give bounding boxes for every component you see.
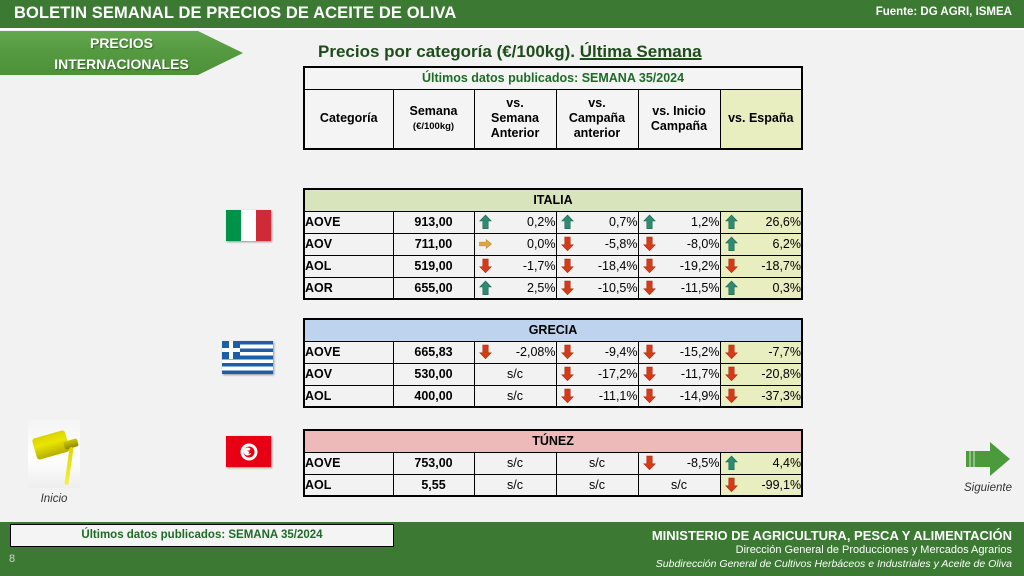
arrow-down-icon <box>643 367 656 382</box>
cell-value: -11,7% <box>681 367 720 381</box>
cell-value: s/c <box>507 456 523 470</box>
cell-value: 6,2% <box>773 237 802 251</box>
section-tab-line2: INTERNACIONALES <box>54 56 189 72</box>
arrow-up-icon <box>725 237 738 252</box>
cell-semana-precio: 913,00 <box>393 211 474 233</box>
cell-value: -19,2% <box>680 259 720 273</box>
cell-vs-semana-anterior: 0,2% <box>474 211 556 233</box>
cell-value: 2,5% <box>527 281 556 295</box>
greece-cross-horizontal <box>222 348 240 352</box>
cell-value: 26,6% <box>766 215 801 229</box>
cell-value: -15,2% <box>680 345 720 359</box>
col-header-semana-main: Semana <box>410 104 458 118</box>
arrow-down-icon <box>643 345 656 360</box>
cell-vs-espana: 4,4% <box>720 452 802 474</box>
flag-tunisia-icon: ★ <box>226 436 271 467</box>
cell-vs-campana-anterior: -9,4% <box>556 341 638 363</box>
cell-value: 4,4% <box>773 456 802 470</box>
nav-siguiente-label: Siguiente <box>952 482 1024 494</box>
cell-vs-semana-anterior: 0,0% <box>474 233 556 255</box>
cell-semana-precio: 5,55 <box>393 474 474 496</box>
cell-value: -11,5% <box>681 281 720 295</box>
cell-vs-inicio-campana: -14,9% <box>638 385 720 407</box>
country-table-túnez: TÚNEZAOVE753,00s/cs/c-8,5%4,4%AOL5,55s/c… <box>303 429 803 497</box>
arrow-down-icon <box>561 280 574 295</box>
arrow-down-icon <box>561 388 574 403</box>
cell-vs-semana-anterior: s/c <box>474 474 556 496</box>
cell-value: s/c <box>589 456 605 470</box>
cell-value: -20,8% <box>761 367 801 381</box>
tunisia-star-icon: ★ <box>246 447 254 456</box>
vs-label-2: Semana <box>491 111 539 125</box>
cell-value: s/c <box>671 478 687 492</box>
cell-vs-espana: -18,7% <box>720 255 802 277</box>
cell-categoria: AOV <box>304 363 393 385</box>
cell-value: -7,7% <box>768 345 801 359</box>
ministry-sdg: Subdirección General de Cultivos Herbáce… <box>652 557 1012 571</box>
cell-categoria: AOL <box>304 474 393 496</box>
arrow-down-icon <box>561 345 574 360</box>
col-header-categoria: Categoría <box>304 89 393 149</box>
cell-value: s/c <box>589 478 605 492</box>
cell-value: -18,7% <box>761 259 801 273</box>
cell-categoria: AOVE <box>304 452 393 474</box>
cell-categoria: AOL <box>304 255 393 277</box>
olive-oil-bottle-icon <box>28 420 80 488</box>
vs-label-3: Anterior <box>491 126 540 140</box>
table-row: AOL5,55s/cs/cs/c-99,1% <box>304 474 802 496</box>
cell-value: 0,2% <box>527 215 556 229</box>
arrow-down-icon <box>643 456 656 471</box>
cell-vs-inicio-campana: -11,7% <box>638 363 720 385</box>
cell-value: -11,1% <box>599 389 638 403</box>
arrow-up-icon <box>479 215 492 230</box>
arrow-down-icon <box>643 388 656 403</box>
cell-vs-inicio-campana: -11,5% <box>638 277 720 299</box>
arrow-down-icon <box>643 259 656 274</box>
cell-vs-inicio-campana: -19,2% <box>638 255 720 277</box>
page-number: 8 <box>9 553 15 565</box>
col-header-semana-unit: (€/100kg) <box>394 119 474 134</box>
cell-vs-espana: 0,3% <box>720 277 802 299</box>
cell-vs-semana-anterior: 2,5% <box>474 277 556 299</box>
source-credit: Fuente: DG AGRI, ISMEA <box>876 6 1012 18</box>
country-table-italia: ITALIAAOVE913,000,2%0,7%1,2%26,6%AOV711,… <box>303 188 803 300</box>
vs-label-4: vs. <box>588 96 605 110</box>
country-banner: TÚNEZ <box>304 430 802 452</box>
app-header-bar: BOLETIN SEMANAL DE PRECIOS DE ACEITE DE … <box>0 0 1024 30</box>
arrow-up-icon <box>479 280 492 295</box>
vs-label-6: anterior <box>574 126 621 140</box>
vs-label-8: Campaña <box>651 119 707 133</box>
flag-italy-icon <box>226 210 271 241</box>
arrow-down-icon <box>479 345 492 360</box>
arrow-up-icon <box>725 280 738 295</box>
page-title: BOLETIN SEMANAL DE PRECIOS DE ACEITE DE … <box>14 4 456 23</box>
cell-vs-campana-anterior: -18,4% <box>556 255 638 277</box>
cell-categoria: AOV <box>304 233 393 255</box>
cell-vs-campana-anterior: -17,2% <box>556 363 638 385</box>
cell-value: 0,3% <box>773 281 802 295</box>
nav-inicio-label: Inicio <box>18 493 90 505</box>
cell-vs-espana: -20,8% <box>720 363 802 385</box>
cell-vs-espana: 6,2% <box>720 233 802 255</box>
arrow-down-icon <box>725 259 738 274</box>
table-title-plain: Precios por categoría (€/100kg). <box>318 42 580 61</box>
arrow-down-icon <box>561 259 574 274</box>
cell-value: -9,4% <box>605 345 638 359</box>
cell-vs-semana-anterior: s/c <box>474 385 556 407</box>
arrow-down-icon <box>725 367 738 382</box>
cell-value: 0,7% <box>609 215 638 229</box>
cell-value: 1,2% <box>691 215 720 229</box>
cell-value: s/c <box>507 478 523 492</box>
arrow-down-icon <box>725 388 738 403</box>
col-header-vs-campana-anterior: vs. Campaña anterior <box>556 89 638 149</box>
cell-value: -14,9% <box>680 389 720 403</box>
published-banner: Últimos datos publicados: SEMANA 35/2024 <box>304 67 802 89</box>
arrow-up-icon <box>561 215 574 230</box>
nav-inicio[interactable]: Inicio <box>18 420 90 505</box>
cell-value: -17,2% <box>598 367 638 381</box>
vs-label-5: Campaña <box>569 111 625 125</box>
arrow-down-icon <box>479 259 492 274</box>
cell-semana-precio: 711,00 <box>393 233 474 255</box>
cell-semana-precio: 400,00 <box>393 385 474 407</box>
flag-greece-icon <box>222 341 273 374</box>
vs-label-7: vs. Inicio <box>652 104 706 118</box>
cell-vs-campana-anterior: -10,5% <box>556 277 638 299</box>
vs-label-1: vs. <box>506 96 523 110</box>
cell-value: -18,4% <box>598 259 638 273</box>
cell-vs-espana: -7,7% <box>720 341 802 363</box>
cell-categoria: AOVE <box>304 341 393 363</box>
cell-value: -99,1% <box>761 478 801 492</box>
cell-semana-precio: 655,00 <box>393 277 474 299</box>
cell-vs-inicio-campana: s/c <box>638 474 720 496</box>
cell-vs-semana-anterior: s/c <box>474 363 556 385</box>
section-tab-line1: PRECIOS <box>90 35 153 51</box>
arrow-down-icon <box>725 345 738 360</box>
cell-value: -8,0% <box>687 237 720 251</box>
arrow-down-icon <box>561 237 574 252</box>
arrow-up-icon <box>725 456 738 471</box>
cell-vs-semana-anterior: -1,7% <box>474 255 556 277</box>
cell-value: -2,08% <box>516 345 556 359</box>
country-table-grecia: GRECIAAOVE665,83-2,08%-9,4%-15,2%-7,7%AO… <box>303 318 803 408</box>
cell-value: s/c <box>507 367 523 381</box>
arrow-down-icon <box>643 280 656 295</box>
col-header-vs-semana-anterior: vs. Semana Anterior <box>474 89 556 149</box>
cell-value: -8,5% <box>687 456 720 470</box>
cell-semana-precio: 753,00 <box>393 452 474 474</box>
cell-categoria: AOVE <box>304 211 393 233</box>
arrow-right-icon <box>964 440 1012 478</box>
cell-vs-campana-anterior: s/c <box>556 474 638 496</box>
cell-vs-campana-anterior: 0,7% <box>556 211 638 233</box>
cell-semana-precio: 519,00 <box>393 255 474 277</box>
arrow-down-icon <box>643 237 656 252</box>
table-row: AOVE913,000,2%0,7%1,2%26,6% <box>304 211 802 233</box>
cell-value: -1,7% <box>523 259 556 273</box>
nav-siguiente[interactable]: Siguiente <box>952 440 1024 494</box>
cell-value: -10,5% <box>598 281 638 295</box>
table-row: AOV711,000,0%-5,8%-8,0%6,2% <box>304 233 802 255</box>
arrow-up-icon <box>725 215 738 230</box>
cell-vs-espana: 26,6% <box>720 211 802 233</box>
table-title-underlined: Última Semana <box>580 42 702 61</box>
table-row: AOVE753,00s/cs/c-8,5%4,4% <box>304 452 802 474</box>
col-header-vs-inicio-campana: vs. Inicio Campaña <box>638 89 720 149</box>
table-row: AOL519,00-1,7%-18,4%-19,2%-18,7% <box>304 255 802 277</box>
arrow-down-icon <box>561 367 574 382</box>
cell-value: s/c <box>507 389 523 403</box>
arrow-right-flat-icon <box>479 237 492 252</box>
cell-vs-campana-anterior: -5,8% <box>556 233 638 255</box>
ministry-name: MINISTERIO DE AGRICULTURA, PESCA Y ALIME… <box>652 528 1012 543</box>
country-banner: GRECIA <box>304 319 802 341</box>
col-header-semana: Semana (€/100kg) <box>393 89 474 149</box>
table-title: Precios por categoría (€/100kg). Última … <box>318 42 702 62</box>
cell-vs-semana-anterior: -2,08% <box>474 341 556 363</box>
footer-ministry: MINISTERIO DE AGRICULTURA, PESCA Y ALIME… <box>652 528 1012 571</box>
cell-vs-inicio-campana: 1,2% <box>638 211 720 233</box>
cell-categoria: AOR <box>304 277 393 299</box>
cell-value: -5,8% <box>605 237 638 251</box>
cell-value: -37,3% <box>761 389 801 403</box>
cell-semana-precio: 530,00 <box>393 363 474 385</box>
table-row: AOR655,002,5%-10,5%-11,5%0,3% <box>304 277 802 299</box>
ministry-dg: Dirección General de Producciones y Merc… <box>652 543 1012 557</box>
cell-semana-precio: 665,83 <box>393 341 474 363</box>
table-row: AOV530,00s/c-17,2%-11,7%-20,8% <box>304 363 802 385</box>
cell-vs-campana-anterior: s/c <box>556 452 638 474</box>
cell-vs-semana-anterior: s/c <box>474 452 556 474</box>
cell-vs-espana: -99,1% <box>720 474 802 496</box>
cell-vs-inicio-campana: -8,5% <box>638 452 720 474</box>
cell-vs-espana: -37,3% <box>720 385 802 407</box>
country-banner: ITALIA <box>304 189 802 211</box>
footer-published-box: Últimos datos publicados: SEMANA 35/2024 <box>10 524 394 547</box>
oil-stream <box>64 447 73 485</box>
cell-vs-campana-anterior: -11,1% <box>556 385 638 407</box>
col-header-vs-espana: vs. España <box>720 89 802 149</box>
cell-value: 0,0% <box>527 237 556 251</box>
cell-categoria: AOL <box>304 385 393 407</box>
table-header-block: Últimos datos publicados: SEMANA 35/2024… <box>303 66 803 150</box>
section-tab-precios-internacionales[interactable]: PRECIOS INTERNACIONALES <box>0 31 243 75</box>
cell-vs-inicio-campana: -8,0% <box>638 233 720 255</box>
arrow-up-icon <box>643 215 656 230</box>
table-row: AOL400,00s/c-11,1%-14,9%-37,3% <box>304 385 802 407</box>
table-row: AOVE665,83-2,08%-9,4%-15,2%-7,7% <box>304 341 802 363</box>
cell-vs-inicio-campana: -15,2% <box>638 341 720 363</box>
arrow-down-icon <box>725 477 738 492</box>
